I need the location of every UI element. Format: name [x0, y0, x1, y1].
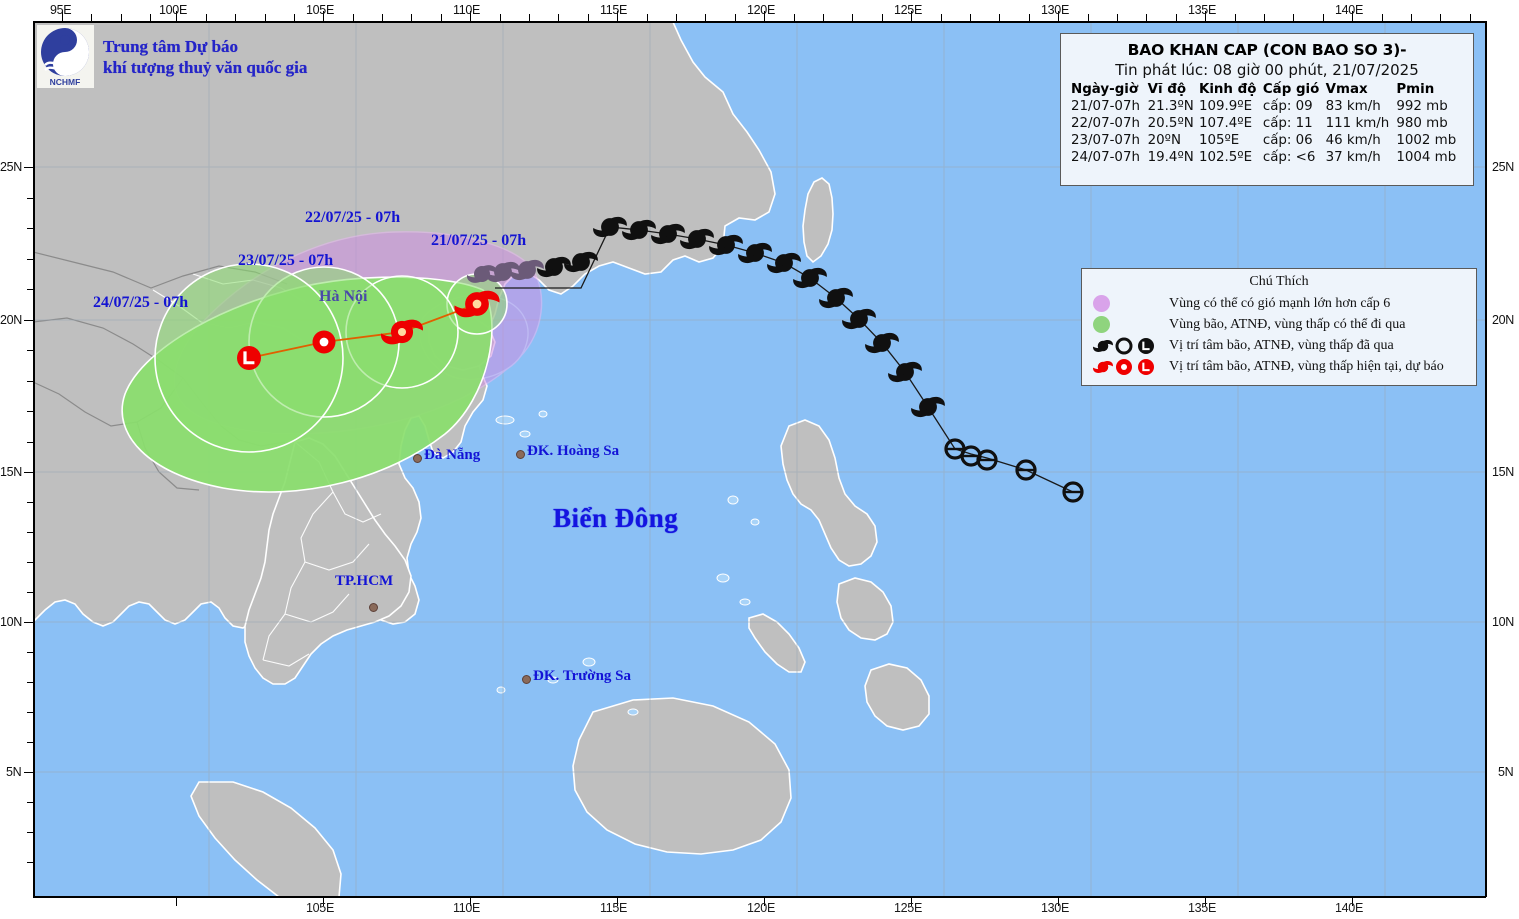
axis-label-lon-115e-top: 115E	[600, 3, 627, 17]
axis-label-lon-135e-bottom: 135E	[1188, 901, 1216, 915]
legend-label-wind-zone: Vùng có thể có gió mạnh lớn hơn cấp 6	[1169, 296, 1390, 312]
axis-label-lat-20n-right: 20N	[1492, 313, 1514, 327]
axis-label-lon-120e-bottom: 120E	[747, 901, 775, 915]
axis-label-lon-125e-top: 125E	[894, 3, 922, 17]
axis-label-lon-110e-top: 110E	[453, 3, 480, 17]
sea-label-bien-dong: Biển Đông	[553, 503, 678, 534]
city-label-hoangsa: ĐK. Hoàng Sa	[527, 443, 619, 460]
organization-name-line1: Trung tâm Dự báo	[103, 36, 307, 57]
axis-label-lon-105e-top: 105E	[306, 3, 334, 17]
axis-label-lon-140e-bottom: 140E	[1335, 901, 1363, 915]
column-header-datetime: Ngày-giờ	[1071, 82, 1148, 98]
axis-label-lat-20n-left: 20N	[0, 313, 22, 327]
axis-label-lon-105e-bottom: 105E	[306, 901, 334, 915]
cell-windlevel: cấp: 09	[1263, 98, 1326, 115]
axis-label-lat-5n-left: 5N	[6, 765, 21, 779]
svg-text:NCHMF: NCHMF	[50, 77, 81, 87]
cell-vmax: 37 km/h	[1326, 149, 1397, 166]
capital-label-hanoi: Hà Nội	[319, 288, 367, 306]
city-dot-hoangsa	[516, 450, 525, 459]
axis-label-lat-25n-right: 25N	[1492, 160, 1514, 174]
legend-symbol-green-zone	[1093, 316, 1169, 333]
cell-windlevel: cấp: <6	[1263, 149, 1326, 166]
storm-track-map-page: 21/07/25 - 07h 22/07/25 - 07h 23/07/25 -…	[0, 0, 1519, 919]
legend-symbol-red-markers	[1093, 357, 1169, 377]
cell-vmax: 83 km/h	[1326, 98, 1397, 115]
storm-bulletin-title: BAO KHAN CAP (CON BAO SO 3)-	[1071, 41, 1463, 59]
legend-title: Chú Thích	[1082, 274, 1476, 290]
axis-right-line	[1485, 21, 1487, 897]
axis-label-lat-25n-left: 25N	[0, 160, 22, 174]
forecast-table: Ngày-giờ Vĩ độ Kinh độ Cấp gió Vmax Pmin…	[1071, 82, 1463, 166]
cell-datetime: 24/07-07h	[1071, 149, 1148, 166]
axis-label-lat-15n-left: 15N	[0, 465, 22, 479]
cell-latitude: 20.5ºN	[1148, 115, 1199, 132]
city-label-danang: Đà Nẵng	[424, 447, 480, 464]
nchmf-logo-icon: NCHMF	[37, 25, 94, 88]
city-label-truongsa: ĐK. Trường Sa	[533, 668, 631, 685]
forecast-label-21-07: 21/07/25 - 07h	[431, 232, 526, 250]
city-dot-truongsa	[522, 675, 531, 684]
legend-label-track-zone: Vùng bão, ATNĐ, vùng thấp có thể đi qua	[1169, 317, 1405, 333]
axis-label-lon-120e-top: 120E	[747, 3, 775, 17]
table-row: 24/07-07h 19.4ºN 102.5ºE cấp: <6 37 km/h…	[1071, 149, 1463, 166]
axis-label-lon-135e-top: 135E	[1188, 3, 1216, 17]
column-header-latitude: Vĩ độ	[1148, 82, 1199, 98]
legend-label-past-positions: Vị trí tâm bão, ATNĐ, vùng thấp đã qua	[1169, 338, 1394, 354]
cell-latitude: 20ºN	[1148, 132, 1199, 149]
cell-pmin: 1004 mb	[1396, 149, 1463, 166]
forecast-label-22-07: 22/07/25 - 07h	[305, 209, 400, 227]
column-header-pmin: Pmin	[1396, 82, 1463, 98]
cell-pmin: 992 mb	[1396, 98, 1463, 115]
cell-latitude: 19.4ºN	[1148, 149, 1199, 166]
axis-bottom-line	[33, 896, 1486, 898]
forecast-marker-23-07	[313, 331, 336, 354]
axis-label-lat-15n-right: 15N	[1492, 465, 1514, 479]
cell-datetime: 22/07-07h	[1071, 115, 1148, 132]
cell-vmax: 111 km/h	[1326, 115, 1397, 132]
organization-name: Trung tâm Dự báo khí tượng thuỷ văn quốc…	[103, 36, 307, 78]
axis-label-lon-130e-bottom: 130E	[1041, 901, 1069, 915]
cell-datetime: 23/07-07h	[1071, 132, 1148, 149]
legend-item-forecast-positions: Vị trí tâm bão, ATNĐ, vùng thấp hiện tại…	[1082, 356, 1476, 377]
legend-symbol-violet-zone	[1093, 295, 1169, 312]
cell-longitude: 102.5ºE	[1199, 149, 1263, 166]
storm-bulletin-issue-time: Tin phát lúc: 08 giờ 00 phút, 21/07/2025	[1071, 61, 1463, 79]
legend-item-track-zone: Vùng bão, ATNĐ, vùng thấp có thể đi qua	[1082, 314, 1476, 335]
cell-pmin: 1002 mb	[1396, 132, 1463, 149]
forecast-label-24-07: 24/07/25 - 07h	[93, 294, 188, 312]
cell-longitude: 107.4ºE	[1199, 115, 1263, 132]
axis-left-line	[33, 21, 35, 897]
table-row: 23/07-07h 20ºN 105ºE cấp: 06 46 km/h 100…	[1071, 132, 1463, 149]
axis-label-lon-110e-bottom: 110E	[453, 901, 480, 915]
axis-label-lon-95e-top: 95E	[50, 3, 71, 17]
map-legend-panel: Chú Thích Vùng có thể có gió mạnh lớn hơ…	[1081, 268, 1477, 386]
city-label-tphcm: TP.HCM	[335, 573, 393, 590]
table-row: 21/07-07h 21.3ºN 109.9ºE cấp: 09 83 km/h…	[1071, 98, 1463, 115]
cell-longitude: 109.9ºE	[1199, 98, 1263, 115]
cell-windlevel: cấp: 06	[1263, 132, 1326, 149]
cell-datetime: 21/07-07h	[1071, 98, 1148, 115]
organization-name-line2: khí tượng thuỷ văn quốc gia	[103, 57, 307, 78]
cell-longitude: 105ºE	[1199, 132, 1263, 149]
table-row: 22/07-07h 20.5ºN 107.4ºE cấp: 11 111 km/…	[1071, 115, 1463, 132]
axis-label-lon-130e-top: 130E	[1041, 3, 1069, 17]
legend-symbol-black-markers	[1093, 336, 1169, 356]
axis-label-lon-100e-top: 100E	[159, 3, 187, 17]
legend-item-past-positions: Vị trí tâm bão, ATNĐ, vùng thấp đã qua	[1082, 335, 1476, 356]
forecast-table-header-row: Ngày-giờ Vĩ độ Kinh độ Cấp gió Vmax Pmin	[1071, 82, 1463, 98]
legend-item-wind-zone: Vùng có thể có gió mạnh lớn hơn cấp 6	[1082, 293, 1476, 314]
axis-label-lon-125e-bottom: 125E	[894, 901, 922, 915]
axis-label-lon-115e-bottom: 115E	[600, 901, 627, 915]
column-header-vmax: Vmax	[1326, 82, 1397, 98]
axis-label-lat-5n-right: 5N	[1498, 765, 1513, 779]
cell-latitude: 21.3ºN	[1148, 98, 1199, 115]
forecast-marker-24-07	[237, 346, 261, 370]
column-header-longitude: Kinh độ	[1199, 82, 1263, 98]
city-dot-danang	[413, 454, 422, 463]
cell-windlevel: cấp: 11	[1263, 115, 1326, 132]
storm-info-panel: BAO KHAN CAP (CON BAO SO 3)- Tin phát lú…	[1060, 33, 1474, 186]
cell-vmax: 46 km/h	[1326, 132, 1397, 149]
column-header-windlevel: Cấp gió	[1263, 82, 1326, 98]
legend-label-forecast-positions: Vị trí tâm bão, ATNĐ, vùng thấp hiện tại…	[1169, 359, 1444, 375]
cell-pmin: 980 mb	[1396, 115, 1463, 132]
axis-label-lat-10n-left: 10N	[0, 615, 22, 629]
city-dot-tphcm	[369, 603, 378, 612]
organization-logo: NCHMF Trung tâm Dự báo khí tượng thuỷ vă…	[37, 25, 307, 88]
axis-top-line	[33, 21, 1486, 23]
forecast-label-23-07: 23/07/25 - 07h	[238, 252, 333, 270]
axis-label-lat-10n-right: 10N	[1492, 615, 1514, 629]
axis-label-lon-140e-top: 140E	[1335, 3, 1363, 17]
